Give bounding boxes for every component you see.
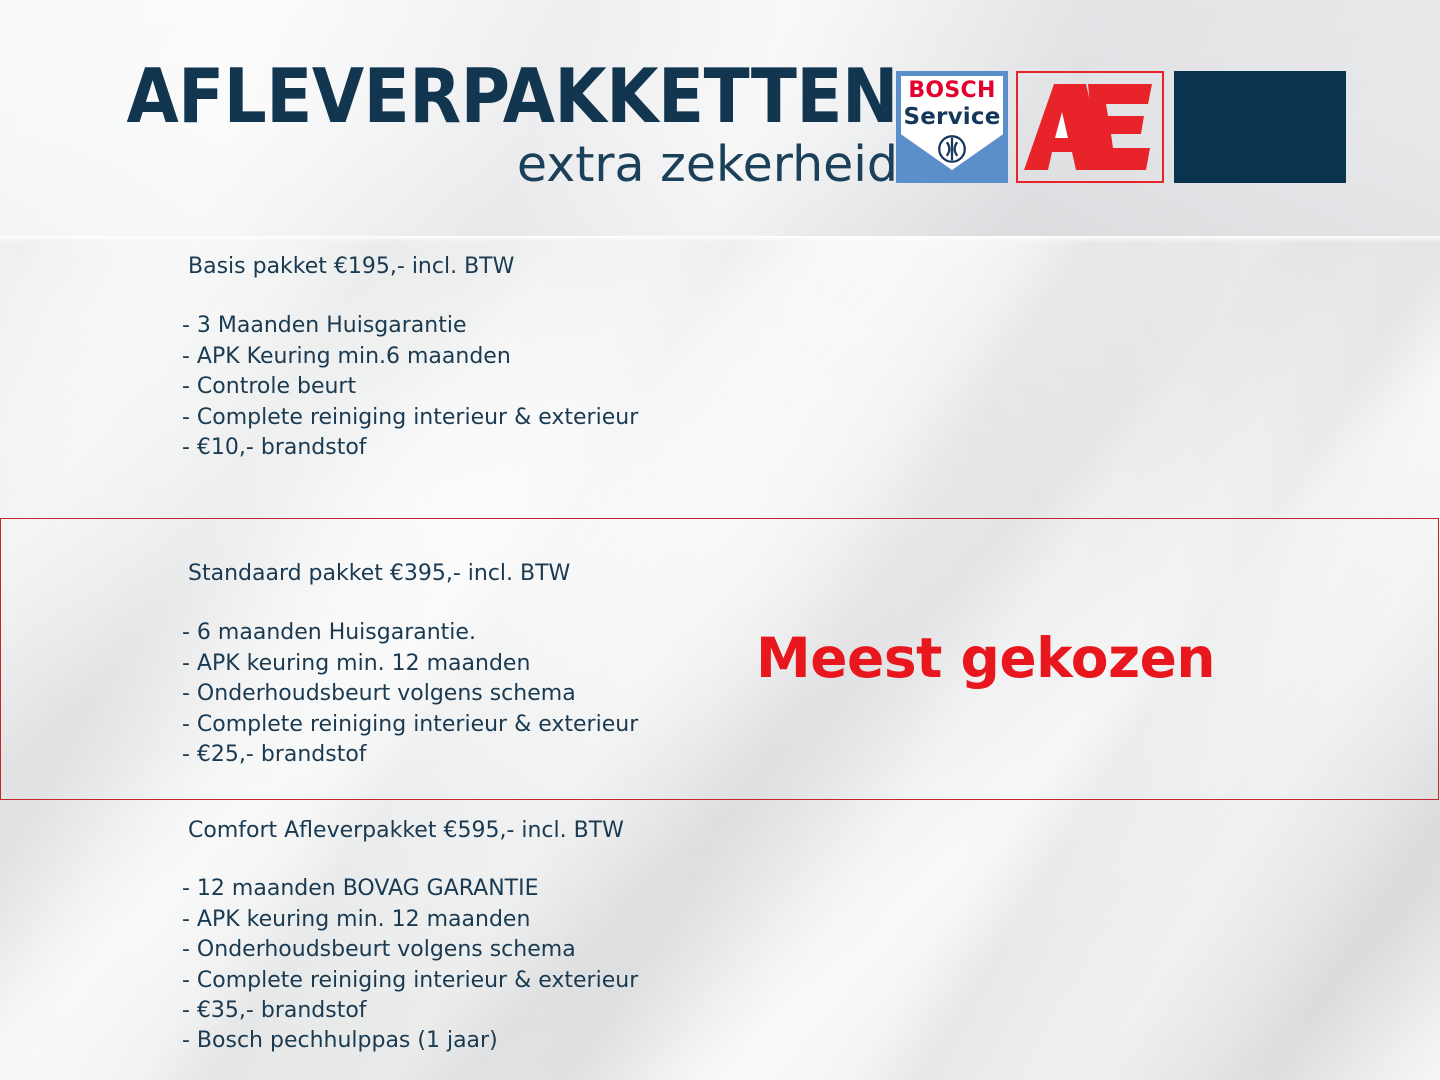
list-item: - Complete reiniging interieur & exterie… — [182, 710, 638, 740]
logo-row: BOSCH Service — [896, 71, 1346, 183]
package-title: Standaard pakket €395,- incl. BTW — [188, 561, 638, 587]
package-basis: Basis pakket €195,- incl. BTW - 3 Maande… — [188, 254, 638, 463]
title-subtitle: extra zekerheid — [118, 139, 898, 190]
bosch-armature-icon — [937, 134, 967, 164]
package-title: Comfort Afleverpakket €595,- incl. BTW — [188, 818, 638, 844]
list-item: - €35,- brandstof — [182, 996, 638, 1026]
ae-logo — [1016, 71, 1164, 183]
list-item: - €25,- brandstof — [182, 740, 638, 770]
list-item: - Complete reiniging interieur & exterie… — [182, 403, 638, 433]
list-item: - Onderhoudsbeurt volgens schema — [182, 935, 638, 965]
package-feature-list: - 6 maanden Huisgarantie. - APK keuring … — [182, 618, 638, 770]
package-feature-list: - 12 maanden BOVAG GARANTIE - APK keurin… — [182, 874, 638, 1056]
page-title: AFLEVERPAKKETTEN extra zekerheid — [118, 58, 898, 190]
package-comfort: Comfort Afleverpakket €595,- incl. BTW -… — [188, 818, 638, 1057]
list-item: - APK keuring min. 12 maanden — [182, 649, 638, 679]
slide: AFLEVERPAKKETTEN extra zekerheid BOSCH S… — [0, 0, 1440, 1080]
list-item: - €10,- brandstof — [182, 433, 638, 463]
list-item: - APK keuring min. 12 maanden — [182, 905, 638, 935]
list-item: - Controle beurt — [182, 372, 638, 402]
header-divider — [0, 236, 1440, 242]
list-item: - 3 Maanden Huisgarantie — [182, 311, 638, 341]
package-standaard: Standaard pakket €395,- incl. BTW - 6 ma… — [188, 561, 638, 770]
status-badge: Meest gekozen — [756, 631, 1215, 686]
title-main: AFLEVERPAKKETTEN — [118, 58, 898, 135]
package-feature-list: - 3 Maanden Huisgarantie - APK Keuring m… — [182, 311, 638, 463]
bosch-wordmark: BOSCH — [896, 80, 1008, 102]
list-item: - Complete reiniging interieur & exterie… — [182, 966, 638, 996]
list-item: - APK Keuring min.6 maanden — [182, 342, 638, 372]
bosch-service-wordmark: Service — [896, 106, 1008, 129]
package-title: Basis pakket €195,- incl. BTW — [188, 254, 638, 280]
list-item: - Bosch pechhulppas (1 jaar) — [182, 1026, 638, 1056]
list-item: - 12 maanden BOVAG GARANTIE — [182, 874, 638, 904]
ae-monogram-icon — [1024, 82, 1156, 172]
list-item: - Onderhoudsbeurt volgens schema — [182, 679, 638, 709]
bosch-service-logo: BOSCH Service — [896, 71, 1008, 183]
list-item: - 6 maanden Huisgarantie. — [182, 618, 638, 648]
navy-block — [1174, 71, 1346, 183]
